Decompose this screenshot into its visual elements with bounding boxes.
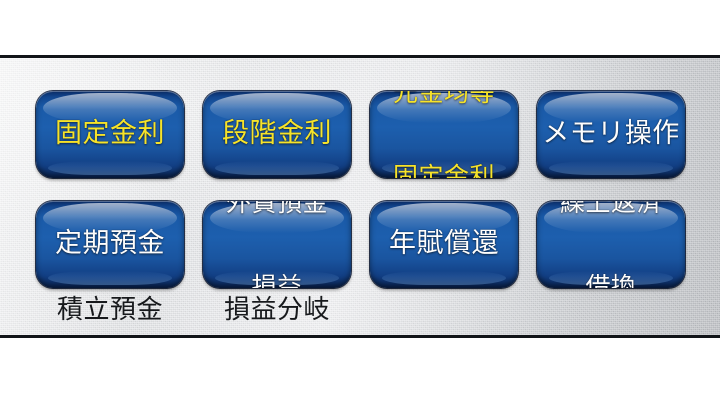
key-label-line1: 元金均等: [393, 91, 495, 107]
key-label-line2: 借換: [560, 273, 662, 289]
key-tiered-interest[interactable]: 段階金利: [203, 91, 351, 178]
key-label: 固定金利: [55, 120, 165, 148]
key-memory-operation[interactable]: メモリ操作: [537, 91, 685, 178]
key-label: 定期預金: [55, 230, 165, 258]
keypad-panel: 固定金利 段階金利 元金均等 固定金利 メモリ操作 定期預金 外貨預金: [0, 55, 720, 338]
key-label: 年賦償還: [389, 230, 499, 258]
key-label-line1: 外貨預金: [226, 201, 328, 217]
key-annuity-repayment[interactable]: 年賦償還: [370, 201, 518, 288]
key-grid: 固定金利 段階金利 元金均等 固定金利 メモリ操作 定期預金 外貨預金: [36, 91, 684, 288]
key-foreign-currency-deposit-profit-loss[interactable]: 外貨預金 損益: [203, 201, 351, 288]
calculator-keypad-screenshot: 固定金利 段階金利 元金均等 固定金利 メモリ操作 定期預金 外貨預金: [0, 0, 720, 400]
key-label-line2: 固定金利: [393, 163, 495, 179]
key-label-line1: 繰上返済: [560, 201, 662, 217]
secondary-function-captions: 積立預金 損益分岐: [36, 293, 684, 333]
key-label: 繰上返済 借換: [560, 201, 662, 288]
caption-break-even-point: 損益分岐: [203, 293, 351, 327]
key-time-deposit[interactable]: 定期預金: [36, 201, 184, 288]
key-label: 段階金利: [222, 120, 332, 148]
key-label: 外貨預金 損益: [226, 201, 328, 288]
key-label: 元金均等 固定金利: [393, 91, 495, 178]
key-fixed-interest[interactable]: 固定金利: [36, 91, 184, 178]
key-equal-principal-fixed-interest[interactable]: 元金均等 固定金利: [370, 91, 518, 178]
caption-installment-savings: 積立預金: [36, 293, 184, 327]
key-label-line2: 損益: [226, 273, 328, 289]
key-early-repayment-refinance[interactable]: 繰上返済 借換: [537, 201, 685, 288]
key-label: メモリ操作: [542, 120, 680, 148]
